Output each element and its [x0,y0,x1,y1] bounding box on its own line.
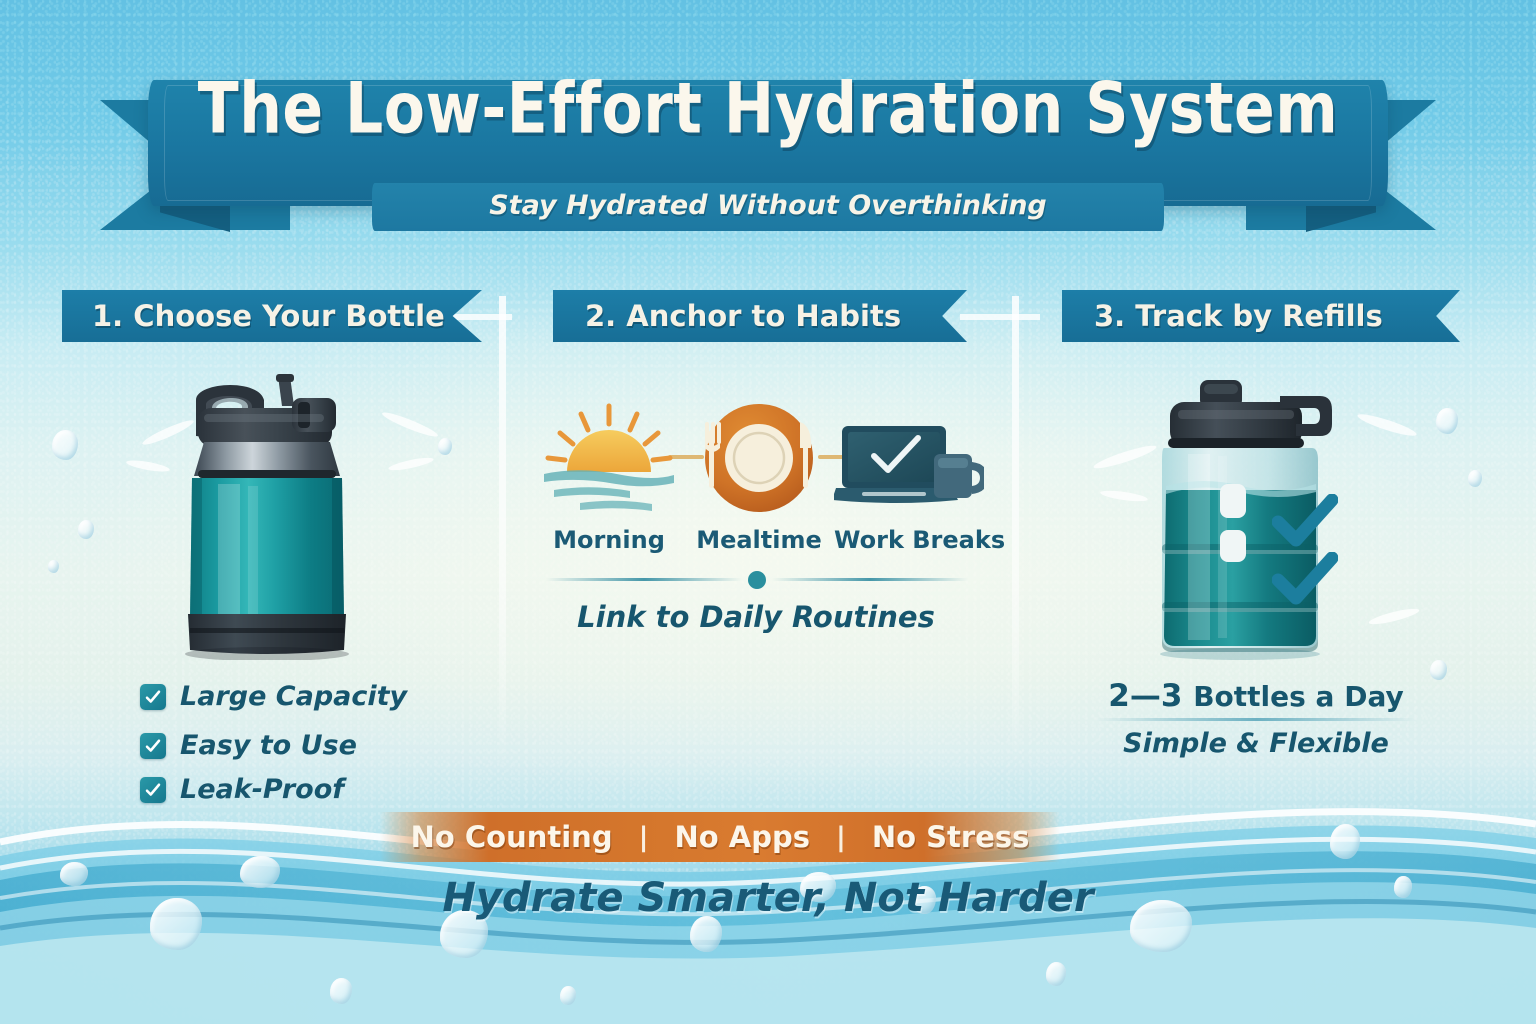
column-divider-1 [499,296,506,766]
benefit-badge: No Apps [674,820,810,854]
checklist-item-label: Leak-Proof [180,774,344,805]
checklist-item: Leak-Proof [140,774,344,805]
column-divider-2 [1012,296,1019,766]
section-header-1: 1. Choose Your Bottle [62,290,482,342]
laptop-mug-icon [834,400,984,520]
infographic-canvas: The Low-Effort Hydration System Stay Hyd… [0,0,1536,1024]
page-title: The Low-Effort Hydration System [0,68,1536,151]
caption-rule-right [772,578,968,581]
habit-label: Mealtime [684,526,834,554]
sunrise-icon [534,400,684,520]
benefit-badge: No Stress [872,820,1030,854]
benefit-separator: | [836,822,846,853]
checklist-item: Large Capacity [140,681,407,712]
checkbox-checked-icon [140,733,166,759]
section-header-3: 3. Track by Refills [1062,290,1460,342]
habit-work-breaks: Work Breaks [834,400,984,554]
habit-morning: Morning [534,400,684,554]
caption-rule-left [546,578,742,581]
section-2-caption: Link to Daily Routines [506,600,1006,634]
checkbox-checked-icon [140,777,166,803]
section-header-1-label: 1. Choose Your Bottle [92,299,445,333]
checklist-item: Easy to Use [140,730,357,761]
section-header-3-label: 3. Track by Refills [1094,299,1383,333]
habit-label: Work Breaks [834,526,984,554]
habit-label: Morning [534,526,684,554]
checklist-item-label: Easy to Use [180,730,357,761]
refill-amount: 2—3 Bottles a Day [1036,678,1476,714]
checklist-item-label: Large Capacity [180,681,407,712]
section-3-rule [1096,718,1416,721]
benefits-band: No Counting | No Apps | No Stress [380,812,1060,862]
section-3-note: Simple & Flexible [1036,728,1476,759]
benefit-separator: | [639,822,649,853]
water-bottle-icon [172,372,388,660]
footer-tagline: Hydrate Smarter, Not Harder [0,875,1536,921]
section-header-2-label: 2. Anchor to Habits [585,299,901,333]
page-subtitle: Stay Hydrated Without Overthinking [0,190,1536,221]
refill-amount-unit: Bottles a Day [1193,680,1404,713]
checkbox-checked-icon [140,684,166,710]
plate-cutlery-icon [684,400,834,520]
refill-amount-number: 2—3 [1108,678,1193,714]
check-mark-icon [1272,552,1338,606]
caption-dot [748,571,766,589]
section-header-2: 2. Anchor to Habits [553,290,967,342]
benefit-badge: No Counting [411,820,613,854]
header-rule-right [960,314,1040,320]
check-mark-icon [1272,494,1338,548]
habit-mealtime: Mealtime [684,400,834,554]
